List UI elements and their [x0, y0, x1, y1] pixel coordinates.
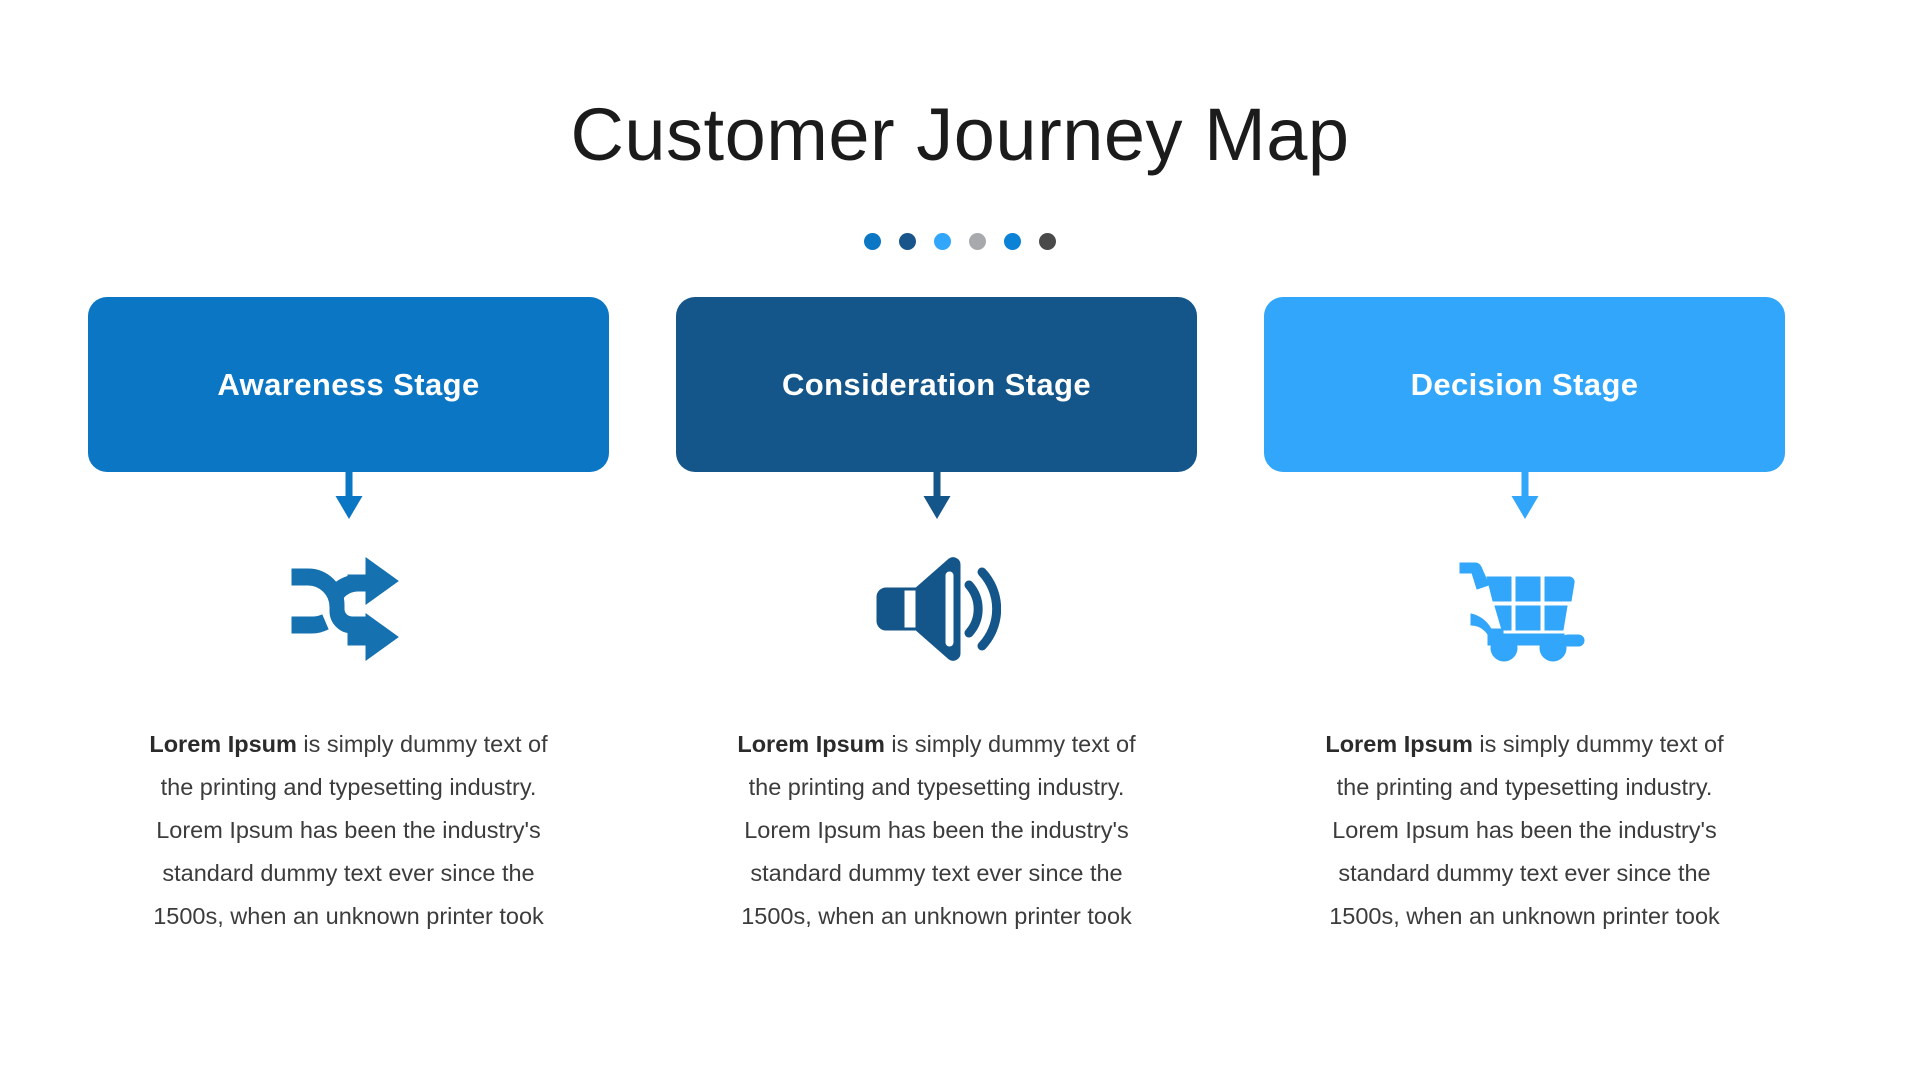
stage-body-rest: is simply dummy text of the printing and… — [1329, 731, 1723, 929]
icon-slot-decision — [1458, 548, 1592, 670]
stage-body-consideration: Lorem Ipsum is simply dummy text of the … — [722, 723, 1152, 938]
down-arrow-decision — [1511, 472, 1539, 520]
dot-indicator-row — [0, 233, 1920, 250]
stage-column-decision: Decision Stage — [1264, 297, 1785, 938]
stage-column-consideration: Consideration Stage — [676, 297, 1197, 938]
stage-label-awareness: Awareness Stage — [217, 367, 479, 403]
shopping-cart-icon — [1458, 555, 1592, 663]
dot-6 — [1039, 233, 1056, 250]
dot-4 — [969, 233, 986, 250]
dot-2 — [899, 233, 916, 250]
stage-body-rest: is simply dummy text of the printing and… — [153, 731, 547, 929]
stage-body-awareness: Lorem Ipsum is simply dummy text of the … — [134, 723, 564, 938]
stage-card-consideration[interactable]: Consideration Stage — [676, 297, 1197, 472]
page-title-wrapper: Customer Journey Map — [0, 96, 1920, 174]
stage-body-decision: Lorem Ipsum is simply dummy text of the … — [1310, 723, 1740, 938]
icon-slot-awareness — [288, 548, 410, 670]
stage-body-lead: Lorem Ipsum — [149, 731, 297, 757]
dot-5 — [1004, 233, 1021, 250]
down-arrow-consideration — [923, 472, 951, 520]
stage-columns: Awareness Stage — [88, 297, 1785, 938]
slide-root: Customer Journey Map Awareness Stage — [0, 0, 1920, 1080]
shuffle-icon — [288, 554, 410, 664]
icon-slot-consideration — [873, 548, 1001, 670]
stage-card-awareness[interactable]: Awareness Stage — [88, 297, 609, 472]
stage-column-awareness: Awareness Stage — [88, 297, 609, 938]
stage-label-decision: Decision Stage — [1411, 367, 1639, 403]
speaker-volume-icon — [873, 555, 1001, 663]
stage-card-decision[interactable]: Decision Stage — [1264, 297, 1785, 472]
down-arrow-awareness — [335, 472, 363, 520]
dot-1 — [864, 233, 881, 250]
stage-body-lead: Lorem Ipsum — [737, 731, 885, 757]
stage-label-consideration: Consideration Stage — [782, 367, 1091, 403]
dot-3 — [934, 233, 951, 250]
stage-body-lead: Lorem Ipsum — [1325, 731, 1473, 757]
stage-body-rest: is simply dummy text of the printing and… — [741, 731, 1135, 929]
page-title: Customer Journey Map — [0, 96, 1920, 174]
